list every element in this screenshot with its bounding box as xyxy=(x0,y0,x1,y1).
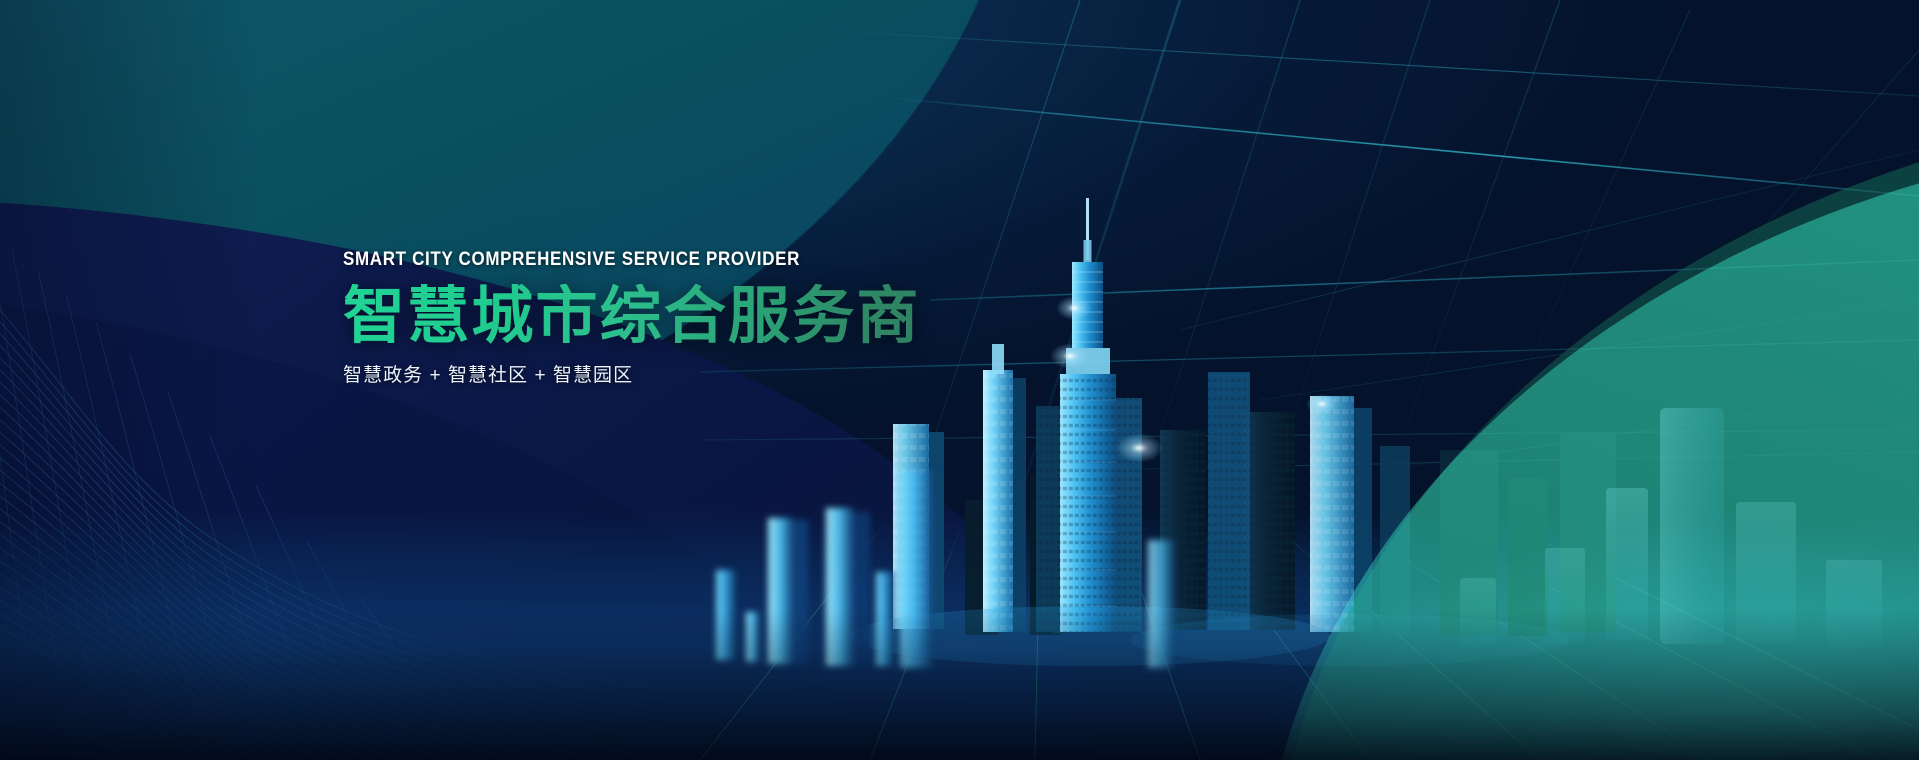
bottom-vignette xyxy=(0,610,1919,760)
hero-text-block: SMART CITY COMPREHENSIVE SERVICE PROVIDE… xyxy=(343,250,921,385)
smart-city-hero-banner: SMART CITY COMPREHENSIVE SERVICE PROVIDE… xyxy=(0,0,1919,760)
hero-eyebrow: SMART CITY COMPREHENSIVE SERVICE PROVIDE… xyxy=(343,250,845,270)
hero-headline: 智慧城市综合服务商 xyxy=(343,284,921,351)
hero-subline: 智慧政务 + 智慧社区 + 智慧园区 xyxy=(343,366,921,385)
